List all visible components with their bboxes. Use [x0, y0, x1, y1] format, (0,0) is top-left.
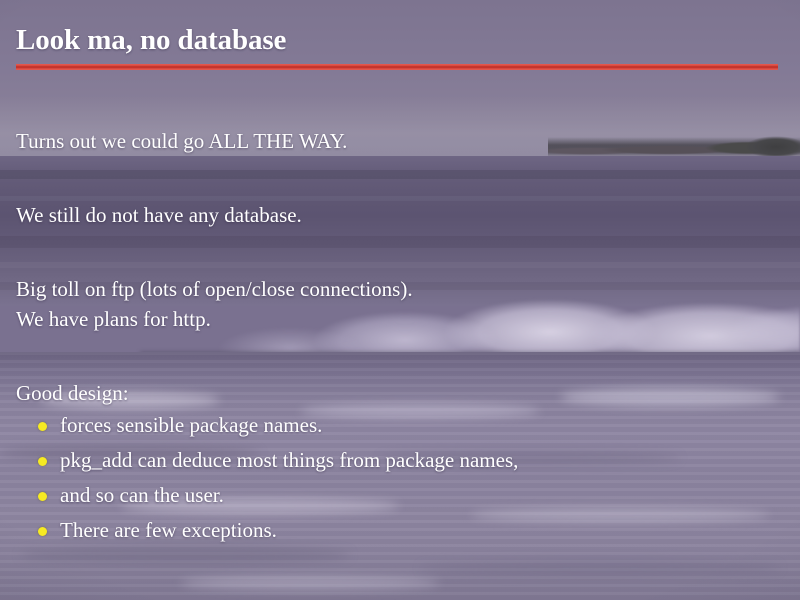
slide-content: Look ma, no database Turns out we could … [0, 0, 800, 600]
title-underline-rule [16, 64, 778, 70]
body-paragraph: We still do not have any database. [16, 200, 786, 230]
slide-body: Turns out we could go ALL THE WAY. We st… [16, 126, 786, 548]
list-item-label: pkg_add can deduce most things from pack… [60, 448, 518, 472]
list-item-label: There are few exceptions. [60, 518, 277, 542]
bullet-icon [38, 422, 47, 431]
presentation-slide: Look ma, no database Turns out we could … [0, 0, 800, 600]
body-paragraph: Turns out we could go ALL THE WAY. [16, 126, 786, 156]
spacer [16, 156, 786, 200]
slide-title: Look ma, no database [16, 24, 286, 57]
body-paragraph: We have plans for http. [16, 304, 786, 334]
bullet-icon [38, 527, 47, 536]
spacer [16, 230, 786, 274]
bullet-icon [38, 457, 47, 466]
list-item-label: and so can the user. [60, 483, 224, 507]
list-item: There are few exceptions. [38, 513, 786, 548]
list-item-label: forces sensible package names. [60, 413, 322, 437]
body-paragraph-good-design: Good design: [16, 378, 786, 408]
body-paragraph: Big toll on ftp (lots of open/close conn… [16, 274, 786, 304]
spacer [16, 334, 786, 378]
bullet-list: forces sensible package names. pkg_add c… [16, 408, 786, 548]
list-item: pkg_add can deduce most things from pack… [38, 443, 786, 478]
list-item: forces sensible package names. [38, 408, 786, 443]
list-item: and so can the user. [38, 478, 786, 513]
bullet-icon [38, 492, 47, 501]
